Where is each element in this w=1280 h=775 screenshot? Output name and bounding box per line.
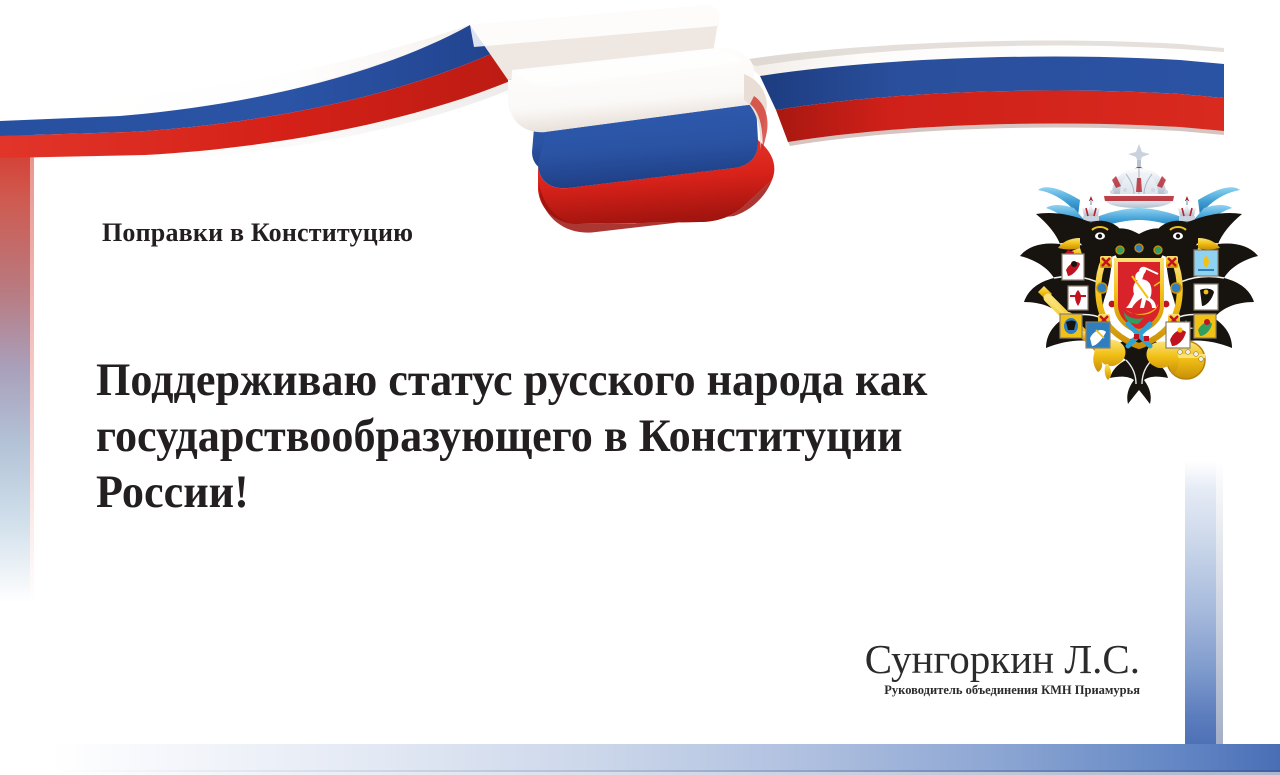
- signature-block: Сунгоркин Л.С. Руководитель объединения …: [865, 637, 1140, 698]
- bottom-accent-bar-shadow: [52, 770, 1280, 775]
- slide-kicker: Поправки в Конституцию: [102, 218, 413, 248]
- slide-headline: Поддерживаю статус русского народа как г…: [96, 352, 1036, 520]
- signature-name: Сунгоркин Л.С.: [865, 637, 1140, 681]
- signature-role: Руководитель объединения КМН Приамурья: [865, 682, 1140, 698]
- bottom-accent-bar: [52, 744, 1280, 772]
- russian-imperial-coat-of-arms-icon: [1008, 138, 1270, 410]
- right-accent-bar-shadow: [1216, 461, 1223, 751]
- presentation-slide: Поправки в Конституцию Поддерживаю стату…: [0, 0, 1280, 775]
- right-accent-bar: [1185, 461, 1216, 751]
